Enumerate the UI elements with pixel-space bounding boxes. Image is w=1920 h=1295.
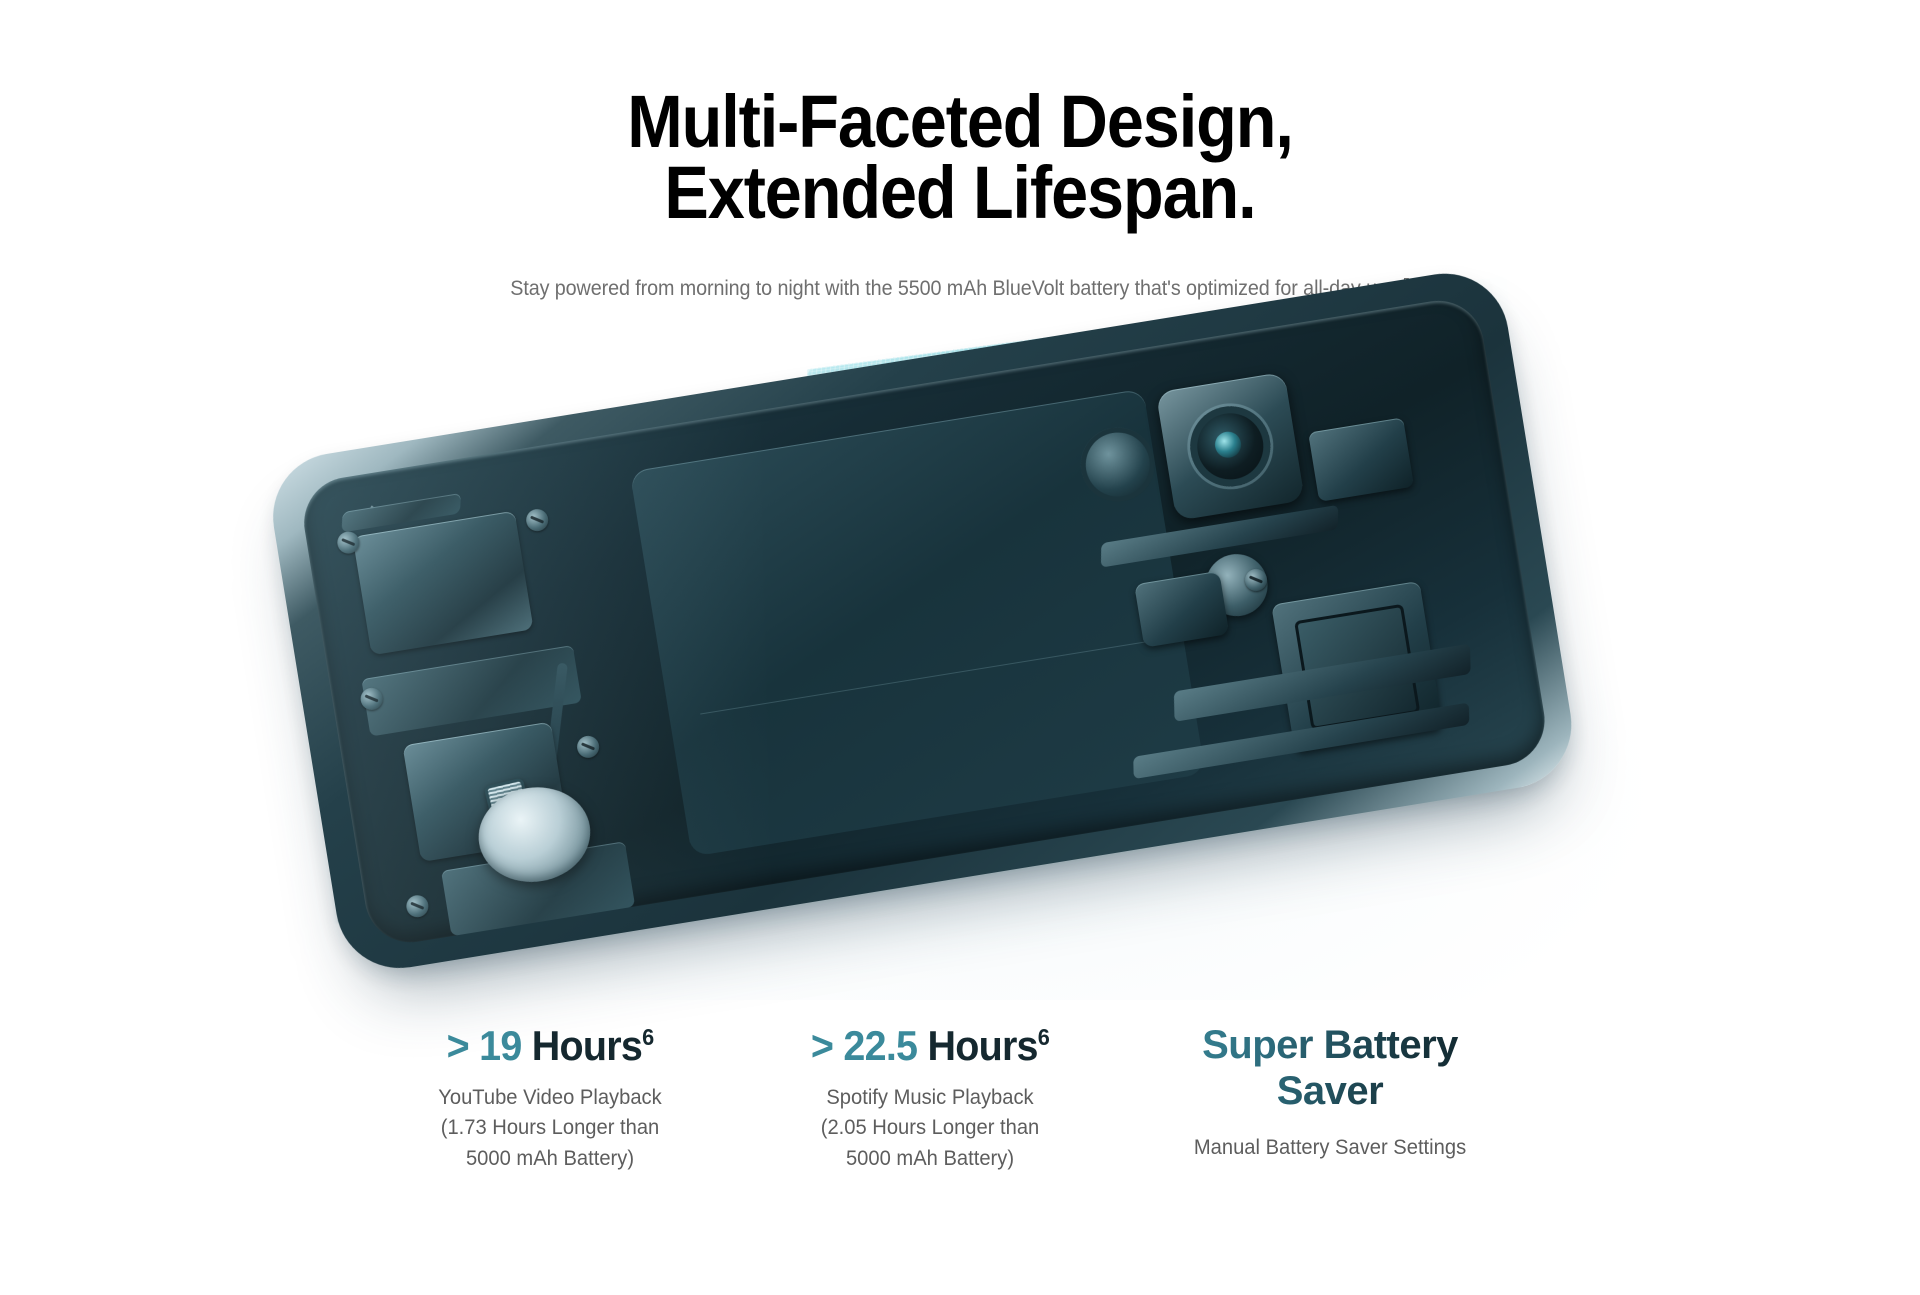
stat-description: YouTube Video Playback (1.73 Hours Longe… [368, 1083, 733, 1174]
stat-super-battery-saver: Super Battery Saver Manual Battery Saver… [1120, 1022, 1540, 1163]
main-camera-icon [1156, 372, 1305, 521]
stat-value: > 19 Hours6 [371, 1022, 728, 1069]
screw-icon [575, 734, 600, 759]
page-subtitle: Stay powered from morning to night with … [58, 277, 1863, 301]
stat-value-number: > 19 [447, 1022, 532, 1069]
page-title-line-2: Extended Lifespan. [96, 157, 1824, 228]
stat-value-number: > 22.5 [811, 1022, 928, 1069]
stat-title-line-2: Saver [1277, 1069, 1383, 1113]
internal-plate [361, 645, 582, 736]
stat-spotify-playback: > 22.5 Hours6 Spotify Music Playback (2.… [740, 1022, 1120, 1174]
secondary-camera-icon [1075, 422, 1160, 507]
stat-value-unit: Hours [927, 1022, 1037, 1069]
stat-footnote-marker: 6 [1038, 1024, 1049, 1050]
chip-icon [1308, 417, 1414, 501]
stat-title: Super Battery Saver [1120, 1022, 1540, 1115]
stat-description-line: 5000 mAh Battery) [368, 1144, 733, 1174]
stat-description: Spotify Music Playback (2.05 Hours Longe… [748, 1083, 1113, 1174]
stats-row: > 19 Hours6 YouTube Video Playback (1.73… [0, 1022, 1920, 1252]
stat-description-line: Spotify Music Playback [748, 1083, 1113, 1113]
stat-description-line: YouTube Video Playback [368, 1083, 733, 1113]
stat-value: > 22.5 Hours6 [751, 1022, 1108, 1069]
shield-can-icon [352, 511, 533, 656]
chip-icon [1134, 571, 1229, 648]
phone-internals-left [323, 459, 686, 922]
screw-icon [405, 894, 430, 919]
page-title: Multi-Faceted Design, Extended Lifespan. [96, 86, 1824, 228]
stat-youtube-playback: > 19 Hours6 YouTube Video Playback (1.73… [360, 1022, 740, 1174]
stat-value-unit: Hours [532, 1022, 642, 1069]
stat-description: Manual Battery Saver Settings [1128, 1133, 1531, 1163]
hero-product-image: 5500mAh [0, 300, 1920, 1000]
stat-footnote-marker: 6 [642, 1024, 653, 1050]
stat-description-line: Manual Battery Saver Settings [1128, 1133, 1531, 1163]
stat-description-line: (1.73 Hours Longer than [368, 1113, 733, 1143]
stat-title-line-1: Super Battery [1202, 1023, 1458, 1067]
page-subtitle-text: Stay powered from morning to night with … [510, 277, 1403, 300]
stat-description-line: 5000 mAh Battery) [748, 1144, 1113, 1174]
screw-icon [525, 508, 550, 533]
battery-feature-page: Multi-Faceted Design, Extended Lifespan.… [0, 0, 1920, 1295]
stat-description-line: (2.05 Hours Longer than [748, 1113, 1113, 1143]
